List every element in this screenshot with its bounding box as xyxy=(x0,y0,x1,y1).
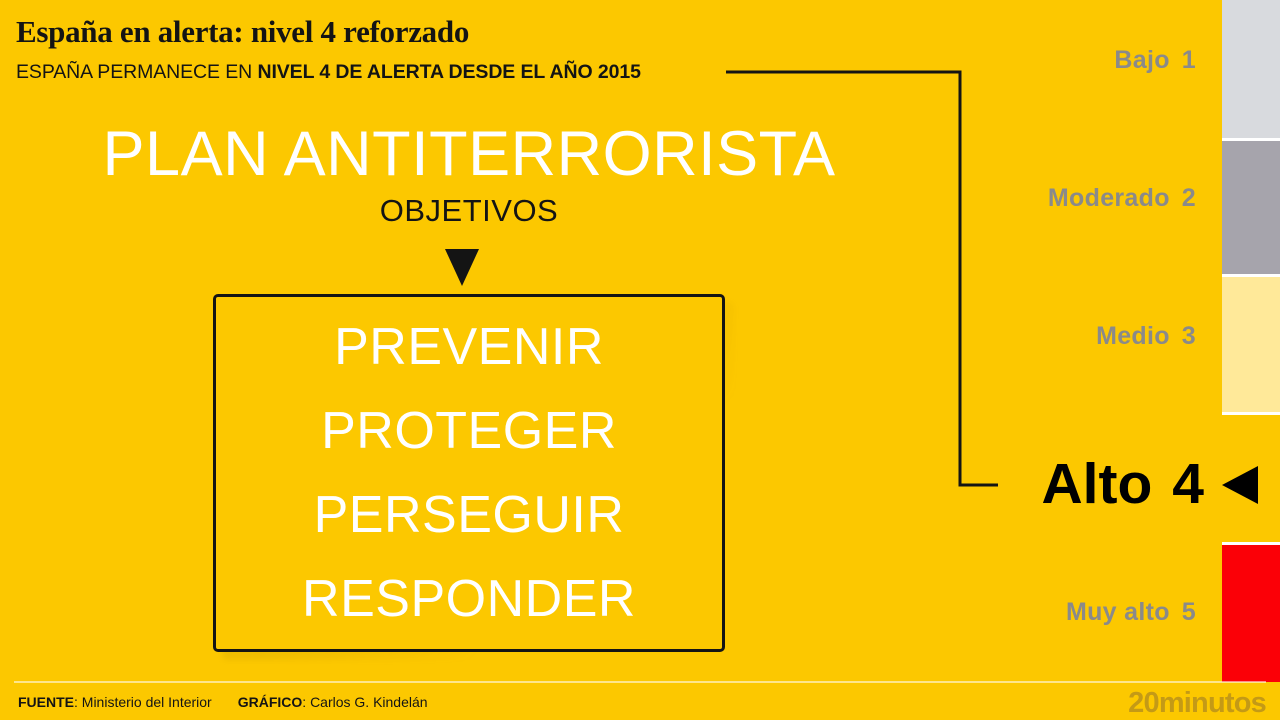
source-label: FUENTE xyxy=(18,694,74,710)
level-label-moderado: Moderado2 xyxy=(1048,183,1196,213)
subtitle-emphasis: NIVEL 4 DE ALERTA DESDE EL AÑO 2015 xyxy=(257,61,640,83)
level-label-alto-current: Alto4 xyxy=(1041,452,1204,516)
level-number: 4 xyxy=(1172,452,1204,516)
subtitle-prefix: ESPAÑA PERMANECE EN xyxy=(16,61,257,83)
level-number: 2 xyxy=(1182,184,1196,212)
level-name: Moderado xyxy=(1048,184,1170,212)
level-number: 1 xyxy=(1182,46,1196,74)
level-name: Muy alto xyxy=(1066,598,1170,626)
level-label-medio: Medio3 xyxy=(1096,321,1196,351)
level-name: Alto xyxy=(1041,452,1152,516)
objective-item: PERSEGUIR xyxy=(314,473,625,557)
alert-level-bar xyxy=(1222,0,1280,682)
objective-item: RESPONDER xyxy=(302,557,636,641)
level-segment-2 xyxy=(1222,141,1280,277)
objectives-heading: OBJETIVOS xyxy=(0,192,938,230)
objective-item: PREVENIR xyxy=(334,305,604,389)
brand-logo: 20minutos xyxy=(1128,688,1266,718)
level-label-bajo: Bajo1 xyxy=(1114,45,1196,75)
plan-title: PLAN ANTITERRORISTA xyxy=(0,119,938,189)
source-value: Ministerio del Interior xyxy=(82,694,212,710)
level-name: Bajo xyxy=(1114,46,1169,74)
graphic-label: GRÁFICO xyxy=(238,694,303,710)
down-arrow-icon xyxy=(445,249,479,286)
level-segment-3 xyxy=(1222,277,1280,415)
graphic-value: Carlos G. Kindelán xyxy=(310,694,428,710)
footer-divider xyxy=(14,681,1266,683)
current-level-pointer-icon xyxy=(1222,466,1258,504)
subtitle: ESPAÑA PERMANECE EN NIVEL 4 DE ALERTA DE… xyxy=(16,60,641,84)
infographic-canvas: España en alerta: nivel 4 reforzado ESPA… xyxy=(0,0,1280,720)
level-number: 3 xyxy=(1182,322,1196,350)
footer-credits: FUENTE: Ministerio del InteriorGRÁFICO: … xyxy=(18,693,428,711)
level-name: Medio xyxy=(1096,322,1170,350)
level-segment-5 xyxy=(1222,545,1280,682)
level-number: 5 xyxy=(1182,598,1196,626)
level-segment-1 xyxy=(1222,0,1280,141)
objectives-box: PREVENIR PROTEGER PERSEGUIR RESPONDER xyxy=(213,294,725,652)
objective-item: PROTEGER xyxy=(321,389,617,473)
level-label-muy-alto: Muy alto5 xyxy=(1066,597,1196,627)
page-title: España en alerta: nivel 4 reforzado xyxy=(16,14,469,50)
